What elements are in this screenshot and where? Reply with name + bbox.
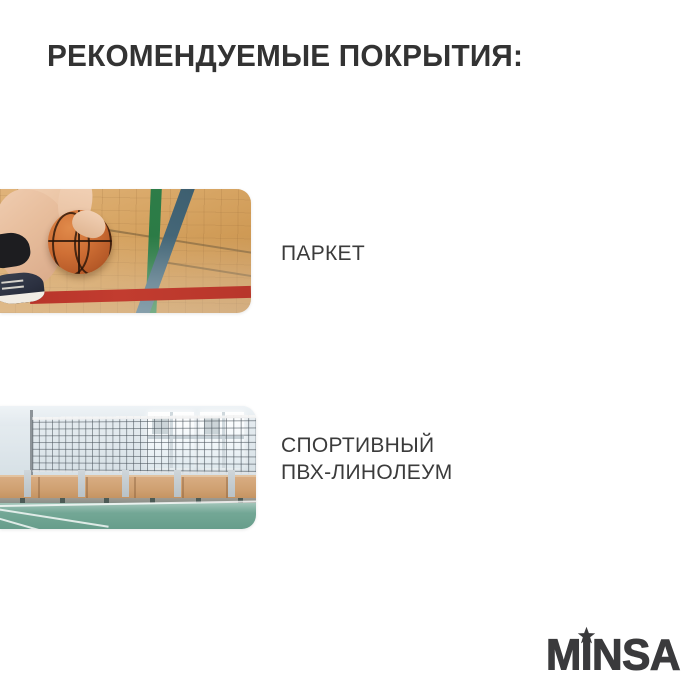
gym-radiator [174,470,181,497]
page-title: РЕКОМЕНДУЕМЫЕ ПОКРЫТИЯ: [47,38,523,74]
photo-card-pvc-linoleum [0,406,256,529]
photo-card-parquet [0,189,251,313]
sneaker-lace [1,280,23,284]
panel-seam [134,477,136,500]
panel-seam [182,477,184,500]
covering-label-parquet: ПАРКЕТ [281,240,365,267]
gym-interior [0,406,256,529]
brand-logo: MINSA [546,626,670,676]
gym-radiator [78,470,85,497]
covering-row-parquet [0,189,251,313]
panel-seam [86,477,88,500]
brand-name: MINSA [546,634,680,677]
promo-slide: РЕКОМЕНДУЕМЫЕ ПОКРЫТИЯ: [0,0,700,700]
player-sneaker [0,270,45,305]
covering-row-pvc [0,406,256,529]
pvc-linoleum-floor [0,503,256,529]
court-line-white [0,515,134,529]
panel-seam [38,477,40,500]
gym-radiator [228,470,235,497]
gym-radiator [24,470,31,497]
sneaker-lace [2,285,24,289]
volleyball-net [32,415,256,474]
gym-radiator [122,470,129,497]
covering-label-pvc-linoleum: СПОРТИВНЫЙ ПВХ-ЛИНОЛЕУМ [281,432,453,486]
